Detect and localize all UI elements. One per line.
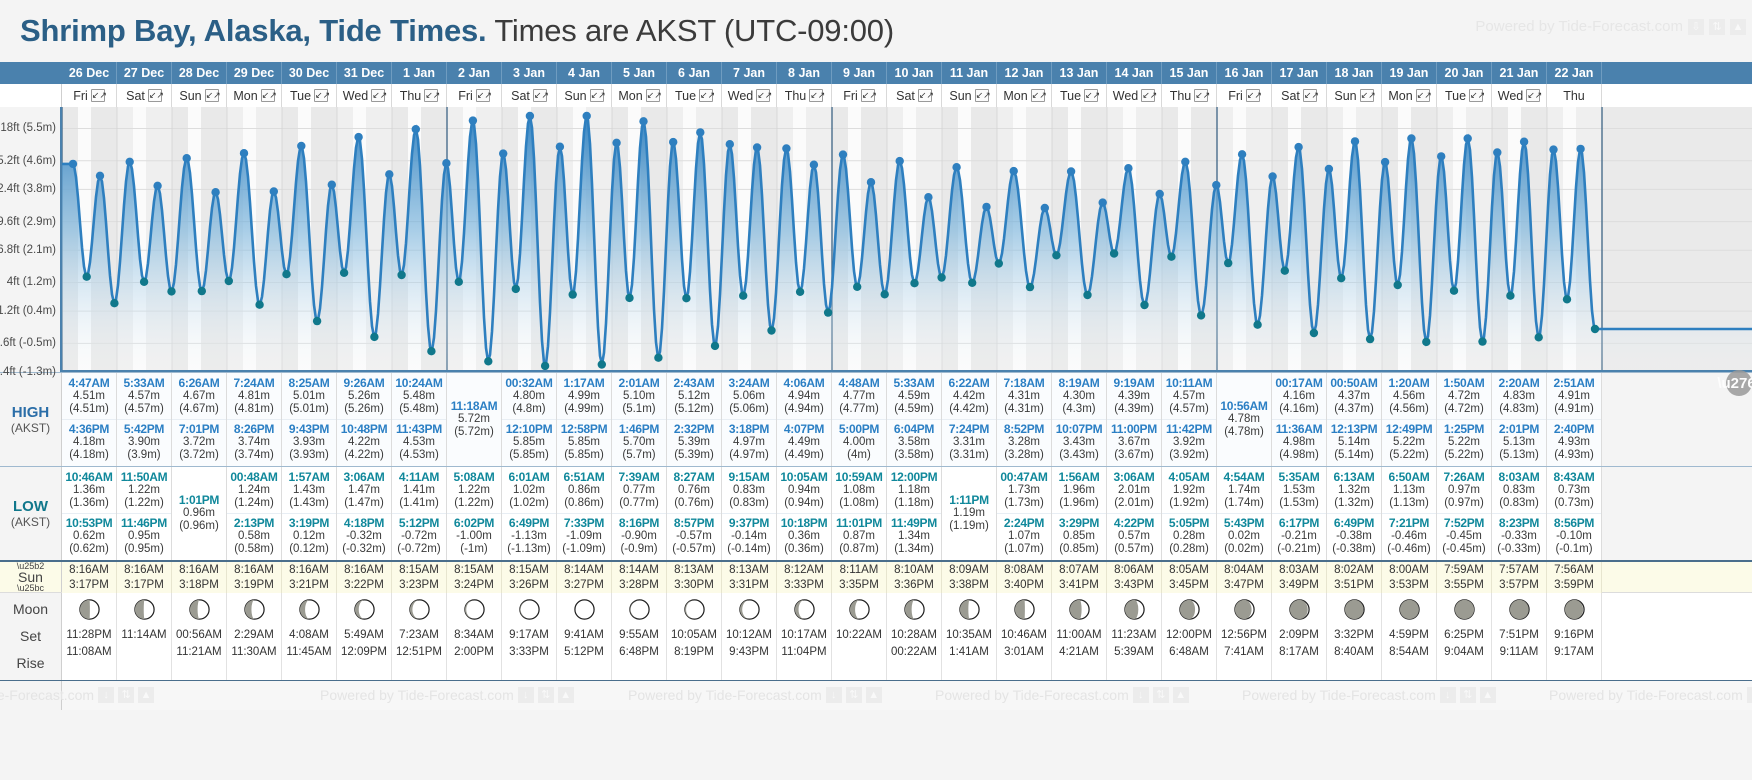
- expand-day-icon[interactable]: ↙↗: [205, 89, 219, 102]
- high-tide-time: 12:13PM: [1327, 422, 1381, 436]
- date-header-cell[interactable]: 28 Dec: [172, 62, 227, 84]
- high-tide-marker[interactable]: [1124, 164, 1132, 172]
- expand-day-icon[interactable]: ↙↗: [261, 89, 275, 102]
- low-tide-marker[interactable]: [1478, 337, 1486, 345]
- date-header-cell[interactable]: 30 Dec: [282, 62, 337, 84]
- high-tide-marker[interactable]: [1437, 152, 1445, 160]
- date-header-cell[interactable]: 22 Jan: [1547, 62, 1602, 84]
- low-tide-marker[interactable]: [255, 301, 263, 309]
- low-tide-marker[interactable]: [1310, 329, 1318, 337]
- high-tide-marker[interactable]: [526, 112, 534, 120]
- high-tide-marker[interactable]: [328, 181, 336, 189]
- sunset-time: 3:43PM: [1114, 578, 1154, 593]
- low-tide-label-tz: (AKST): [11, 515, 50, 529]
- expand-day-icon[interactable]: ↙↗: [861, 89, 875, 102]
- date-header-cell[interactable]: 8 Jan: [777, 62, 832, 84]
- weekday-header-cell: Tue↙↗: [1052, 84, 1107, 107]
- high-tide-marker[interactable]: [726, 140, 734, 148]
- low-tide-marker[interactable]: [282, 270, 290, 278]
- expand-day-icon[interactable]: ↙↗: [1141, 89, 1155, 102]
- date-header-cell[interactable]: 14 Jan: [1107, 62, 1162, 84]
- high-tide-marker[interactable]: [1351, 137, 1359, 145]
- low-tide-marker[interactable]: [881, 290, 889, 298]
- low-tide-height-alt: (0.85m): [1052, 543, 1106, 556]
- scroll-right-button[interactable]: \u276f: [1726, 370, 1752, 396]
- high-tide-marker[interactable]: [126, 158, 134, 166]
- high-tide-marker[interactable]: [982, 203, 990, 211]
- expand-day-icon[interactable]: ↙↗: [1416, 89, 1430, 102]
- low-tide-marker[interactable]: [682, 294, 690, 302]
- high-tide-marker[interactable]: [354, 133, 362, 141]
- sunset-time: 3:40PM: [1004, 578, 1044, 593]
- low-tide-marker[interactable]: [711, 342, 719, 350]
- low-tide-time: 6:17PM: [1272, 516, 1326, 530]
- low-tide-marker[interactable]: [1197, 311, 1205, 319]
- moon-phase-icon: [793, 598, 816, 621]
- high-tide-marker[interactable]: [1325, 165, 1333, 173]
- high-tide-height-alt: (3.58m): [887, 449, 941, 462]
- low-tide-cell: 8:43AM0.73m(0.73m)8:56PM-0.10m(-0.1m): [1547, 467, 1602, 560]
- high-tide-height-alt: (4.94m): [777, 403, 831, 416]
- high-tide-event: 3:24AM5.06m(5.06m): [722, 374, 776, 419]
- low-tide-height-alt: (1.73m): [997, 497, 1051, 510]
- low-tide-cell: 3:06AM2.01m(2.01m)4:22PM0.57m(0.57m): [1107, 467, 1162, 560]
- low-tide-marker[interactable]: [1224, 259, 1232, 267]
- low-tide-marker[interactable]: [110, 299, 118, 307]
- low-tide-cell: 10:05AM0.94m(0.94m)10:18PM0.36m(0.36m): [777, 467, 832, 560]
- low-tide-marker[interactable]: [598, 360, 606, 368]
- expand-day-icon[interactable]: ↙↗: [699, 89, 713, 102]
- sun-cell: 8:16AM3:19PM: [227, 562, 282, 594]
- low-tide-marker[interactable]: [1281, 267, 1289, 275]
- weekday-header-cell: Fri↙↗: [62, 84, 117, 107]
- expand-day-icon[interactable]: ↙↗: [1194, 89, 1208, 102]
- low-tide-marker[interactable]: [910, 279, 918, 287]
- sunrise-time: 8:03AM: [1279, 563, 1319, 578]
- low-tide-marker[interactable]: [1052, 251, 1060, 259]
- high-tide-marker[interactable]: [96, 172, 104, 180]
- low-tide-marker[interactable]: [1337, 274, 1345, 282]
- low-tide-marker[interactable]: [225, 277, 233, 285]
- low-tide-marker[interactable]: [796, 288, 804, 296]
- high-tide-marker[interactable]: [1238, 150, 1246, 158]
- sun-cell: 8:13AM3:31PM: [722, 562, 777, 594]
- low-tide-height-alt: (1.96m): [1052, 497, 1106, 510]
- expand-day-icon[interactable]: ↙↗: [646, 89, 660, 102]
- high-tide-marker[interactable]: [583, 112, 591, 120]
- high-tide-height-alt: (4.42m): [942, 403, 996, 416]
- sunset-time: 3:53PM: [1389, 578, 1429, 593]
- low-tide-marker[interactable]: [512, 285, 520, 293]
- low-tide-marker[interactable]: [1026, 283, 1034, 291]
- moon-cell: 9:55AM6:48PM: [612, 593, 667, 681]
- sunset-time: 3:21PM: [289, 578, 329, 593]
- date-header-cell[interactable]: 11 Jan: [942, 62, 997, 84]
- low-tide-marker[interactable]: [370, 333, 378, 341]
- sunrise-time: 8:16AM: [69, 563, 109, 578]
- low-tide-marker[interactable]: [1083, 291, 1091, 299]
- sun-cell: 7:59AM3:55PM: [1437, 562, 1492, 594]
- high-tide-time: 10:07PM: [1052, 422, 1106, 436]
- high-tide-marker[interactable]: [612, 139, 620, 147]
- high-tide-marker[interactable]: [782, 144, 790, 152]
- expand-day-icon[interactable]: ↙↗: [314, 89, 328, 102]
- high-tide-marker[interactable]: [270, 187, 278, 195]
- date-header-cell[interactable]: 9 Jan: [832, 62, 887, 84]
- date-header-cell[interactable]: 4 Jan: [557, 62, 612, 84]
- sunrise-time: 8:04AM: [1224, 563, 1264, 578]
- high-tide-height-alt: (5.7m): [612, 449, 666, 462]
- low-tide-marker[interactable]: [140, 278, 148, 286]
- high-tide-marker[interactable]: [469, 116, 477, 124]
- tide-chart-plot[interactable]: [62, 107, 1752, 372]
- high-tide-marker[interactable]: [69, 160, 77, 168]
- expand-day-icon[interactable]: ↙↗: [476, 89, 490, 102]
- expand-day-icon[interactable]: ↙↗: [590, 89, 604, 102]
- high-tide-height-alt: (4.39m): [1107, 403, 1161, 416]
- expand-day-icon[interactable]: ↙↗: [371, 89, 385, 102]
- high-tide-marker[interactable]: [412, 125, 420, 133]
- weekday-header-cell: Sun↙↗: [557, 84, 612, 107]
- low-tide-marker[interactable]: [1591, 325, 1599, 333]
- expand-day-icon[interactable]: ↙↗: [975, 89, 989, 102]
- low-tide-height: 0.86m: [557, 484, 611, 497]
- moon-label: Moon Set Rise: [0, 593, 62, 680]
- high-tide-marker[interactable]: [499, 149, 507, 157]
- low-tide-marker[interactable]: [541, 362, 549, 370]
- high-tide-marker[interactable]: [153, 182, 161, 190]
- high-tide-marker[interactable]: [556, 143, 564, 151]
- date-header-cell[interactable]: 5 Jan: [612, 62, 667, 84]
- low-tide-marker[interactable]: [654, 354, 662, 362]
- low-tide-time: 11:46PM: [117, 516, 171, 530]
- low-tide-marker[interactable]: [1394, 281, 1402, 289]
- high-tide-time: 2:01AM: [612, 376, 666, 390]
- high-tide-marker[interactable]: [1156, 190, 1164, 198]
- moonset-time: 00:56AM: [176, 627, 222, 644]
- high-tide-event: 11:18AM5.72m(5.72m): [447, 397, 501, 442]
- footer-watermark: Powered by Tide-Forecast.com↓⇅▲: [628, 687, 882, 703]
- expand-day-icon[interactable]: ↙↗: [809, 89, 823, 102]
- high-tide-marker[interactable]: [1099, 198, 1107, 206]
- high-tide-marker[interactable]: [1576, 145, 1584, 153]
- high-tide-marker[interactable]: [1464, 134, 1472, 142]
- date-header-cell[interactable]: 31 Dec: [337, 62, 392, 84]
- low-tide-event: 7:33PM-1.09m(-1.09m): [557, 513, 611, 559]
- low-tide-height-alt: (1.92m): [1162, 497, 1216, 510]
- high-tide-event: 2:43AM5.12m(5.12m): [667, 374, 721, 419]
- expand-day-icon[interactable]: ↙↗: [1084, 89, 1098, 102]
- high-tide-height-alt: (4.99m): [557, 403, 611, 416]
- low-tide-marker[interactable]: [937, 273, 945, 281]
- low-tide-marker[interactable]: [198, 287, 206, 295]
- moonset-time: 10:12AM: [726, 627, 772, 644]
- high-tide-marker[interactable]: [639, 117, 647, 125]
- moonrise-time: 6:48PM: [619, 644, 659, 661]
- high-tide-height: 4.00m: [832, 436, 886, 449]
- low-tide-event: 8:16PM-0.90m(-0.9m): [612, 513, 666, 559]
- low-tide-marker[interactable]: [853, 283, 861, 291]
- low-tide-marker[interactable]: [995, 259, 1003, 267]
- date-header-cell[interactable]: 3 Jan: [502, 62, 557, 84]
- weekday-label: Wed: [1498, 89, 1523, 103]
- high-tide-height: 4.56m: [1382, 390, 1436, 403]
- low-tide-marker[interactable]: [1110, 249, 1118, 257]
- weekday-label: Thu: [1170, 89, 1192, 103]
- high-tide-time: 9:19AM: [1107, 376, 1161, 390]
- low-tide-marker[interactable]: [569, 290, 577, 298]
- moon-cell: 11:14AM: [117, 593, 172, 681]
- sun-cell: 8:14AM3:27PM: [557, 562, 612, 594]
- high-tide-marker[interactable]: [1549, 145, 1557, 153]
- high-tide-time: 10:11AM: [1162, 376, 1216, 390]
- moonset-time: 9:41AM: [564, 627, 604, 644]
- moonset-time: 9:55AM: [619, 627, 659, 644]
- low-tide-height-alt: (0.83m): [722, 497, 776, 510]
- expand-day-icon[interactable]: ↙↗: [148, 89, 162, 102]
- sunrise-time: 8:07AM: [1059, 563, 1099, 578]
- date-header-cell[interactable]: 15 Jan: [1162, 62, 1217, 84]
- high-tide-height: 4.91m: [1547, 390, 1601, 403]
- weekday-label: Sat: [1281, 89, 1300, 103]
- high-tide-height: 5.22m: [1382, 436, 1436, 449]
- low-tide-marker[interactable]: [1563, 295, 1571, 303]
- moon-cell: 11:28PM11:08AM: [62, 593, 117, 681]
- high-tide-height-alt: (3.93m): [282, 449, 336, 462]
- low-tide-height: 0.36m: [777, 530, 831, 543]
- high-tide-marker[interactable]: [385, 170, 393, 178]
- date-header-cell[interactable]: 10 Jan: [887, 62, 942, 84]
- low-tide-marker[interactable]: [1506, 292, 1514, 300]
- low-tide-height-alt: (-0.32m): [337, 543, 391, 556]
- low-tide-marker[interactable]: [484, 357, 492, 365]
- weekday-label: Tue: [1445, 89, 1466, 103]
- high-tide-time: 4:48AM: [832, 376, 886, 390]
- high-tide-height-alt: (3.67m): [1107, 449, 1161, 462]
- low-tide-event: 6:49PM-0.38m(-0.38m): [1327, 513, 1381, 559]
- high-tide-marker[interactable]: [1407, 134, 1415, 142]
- high-tide-marker[interactable]: [810, 161, 818, 169]
- low-tide-marker[interactable]: [824, 308, 832, 316]
- high-tide-height-alt: (5.72m): [447, 426, 501, 439]
- high-tide-marker[interactable]: [1212, 181, 1220, 189]
- date-header-cell[interactable]: 7 Jan: [722, 62, 777, 84]
- high-tide-height: 4.53m: [392, 436, 446, 449]
- moonrise-time: 00:22AM: [891, 644, 937, 661]
- date-header-cell[interactable]: 29 Dec: [227, 62, 282, 84]
- high-tide-height: 4.51m: [62, 390, 116, 403]
- low-tide-marker[interactable]: [427, 347, 435, 355]
- expand-day-icon[interactable]: ↙↗: [1246, 89, 1260, 102]
- low-tide-height: 0.83m: [1492, 484, 1546, 497]
- high-tide-marker[interactable]: [839, 150, 847, 158]
- date-header-cell[interactable]: 17 Jan: [1272, 62, 1327, 84]
- low-tide-height-alt: (1.08m): [832, 497, 886, 510]
- high-tide-height: 5.72m: [447, 413, 501, 426]
- moonset-time: 11:23AM: [1111, 627, 1156, 644]
- date-header-cell[interactable]: 13 Jan: [1052, 62, 1107, 84]
- date-header-cell[interactable]: 20 Jan: [1437, 62, 1492, 84]
- high-tide-time: 11:36AM: [1272, 422, 1326, 436]
- low-tide-height: 0.87m: [832, 530, 886, 543]
- high-tide-marker[interactable]: [240, 149, 248, 157]
- date-header-cell[interactable]: 6 Jan: [667, 62, 722, 84]
- low-tide-height: 0.58m: [227, 530, 281, 543]
- high-tide-height-alt: (4.31m): [997, 403, 1051, 416]
- low-tide-marker[interactable]: [1535, 333, 1543, 341]
- high-tide-marker[interactable]: [1493, 148, 1501, 156]
- low-tide-marker[interactable]: [1167, 253, 1175, 261]
- expand-day-icon[interactable]: ↙↗: [1031, 89, 1045, 102]
- high-tide-cell: 7:18AM4.31m(4.31m)8:52PM3.28m(3.28m): [997, 373, 1052, 466]
- expand-day-icon[interactable]: ↙↗: [918, 89, 932, 102]
- high-tide-marker[interactable]: [924, 193, 932, 201]
- high-tide-cell: 5:33AM4.59m(4.59m)6:04PM3.58m(3.58m): [887, 373, 942, 466]
- high-tide-event: 1:50AM4.72m(4.72m): [1437, 374, 1491, 419]
- expand-day-icon[interactable]: ↙↗: [1303, 89, 1317, 102]
- low-tide-marker[interactable]: [455, 278, 463, 286]
- high-tide-marker[interactable]: [1268, 172, 1276, 180]
- expand-day-icon[interactable]: ↙↗: [1360, 89, 1374, 102]
- low-tide-marker[interactable]: [1140, 301, 1148, 309]
- high-tide-event: 11:00PM3.67m(3.67m): [1107, 419, 1161, 465]
- high-tide-time: 4:06AM: [777, 376, 831, 390]
- low-tide-event: 5:12PM-0.72m(-0.72m): [392, 513, 446, 559]
- high-tide-marker[interactable]: [952, 163, 960, 171]
- date-header-cell[interactable]: 21 Jan: [1492, 62, 1547, 84]
- date-header-cell[interactable]: 2 Jan: [447, 62, 502, 84]
- expand-day-icon[interactable]: ↙↗: [756, 89, 770, 102]
- chart-y-tick-label: 12.4ft (3.8m): [0, 183, 56, 195]
- low-tide-height-alt: (-0.72m): [392, 543, 446, 556]
- low-tide-marker[interactable]: [83, 273, 91, 281]
- low-tide-time: 2:13PM: [227, 516, 281, 530]
- high-tide-height: 4.67m: [172, 390, 226, 403]
- low-tide-marker[interactable]: [167, 287, 175, 295]
- high-tide-cell: 10:56AM4.78m(4.78m): [1217, 373, 1272, 466]
- low-tide-cell: 4:11AM1.41m(1.41m)5:12PM-0.72m(-0.72m): [392, 467, 447, 560]
- refresh-badge-icon: ⇅: [846, 687, 862, 703]
- high-tide-marker[interactable]: [1294, 143, 1302, 151]
- sun-cell: 8:03AM3:49PM: [1272, 562, 1327, 594]
- high-tide-marker[interactable]: [1010, 167, 1018, 175]
- low-tide-time: 6:50AM: [1382, 470, 1436, 484]
- low-tide-height: 1.19m: [942, 507, 996, 520]
- high-tide-cell: 3:24AM5.06m(5.06m)3:18PM4.97m(4.97m): [722, 373, 777, 466]
- high-tide-marker[interactable]: [211, 188, 219, 196]
- page-title-location: Shrimp Bay, Alaska, Tide Times.: [20, 13, 486, 48]
- high-tide-marker[interactable]: [1381, 158, 1389, 166]
- low-tide-marker[interactable]: [397, 271, 405, 279]
- high-tide-time: 2:40PM: [1547, 422, 1601, 436]
- low-tide-marker[interactable]: [739, 292, 747, 300]
- high-tide-marker[interactable]: [1041, 204, 1049, 212]
- high-tide-time: 2:20AM: [1492, 376, 1546, 390]
- low-tide-height-alt: (1.53m): [1272, 497, 1326, 510]
- low-tide-marker[interactable]: [1253, 321, 1261, 329]
- expand-day-icon[interactable]: ↙↗: [533, 89, 547, 102]
- low-tide-height: -0.14m: [722, 530, 776, 543]
- sunrise-time: 8:13AM: [729, 563, 769, 578]
- low-tide-marker[interactable]: [767, 326, 775, 334]
- expand-day-icon[interactable]: ↙↗: [424, 89, 438, 102]
- low-tide-height-alt: (-0.46m): [1382, 543, 1436, 556]
- low-tide-marker[interactable]: [1450, 287, 1458, 295]
- low-tide-marker[interactable]: [340, 269, 348, 277]
- date-header-cell[interactable]: 19 Jan: [1382, 62, 1437, 84]
- high-tide-marker[interactable]: [867, 178, 875, 186]
- moonrise-time: 8:17AM: [1279, 644, 1319, 661]
- refresh-badge-icon: ⇅: [538, 687, 554, 703]
- moon-cell: 10:46AM3:01AM: [997, 593, 1052, 681]
- date-header-cell[interactable]: 1 Jan: [392, 62, 447, 84]
- high-tide-marker[interactable]: [696, 128, 704, 136]
- low-tide-time: 4:22PM: [1107, 516, 1161, 530]
- high-tide-marker[interactable]: [1520, 138, 1528, 146]
- date-header-cell[interactable]: 27 Dec: [117, 62, 172, 84]
- low-tide-event: 10:59AM1.08m(1.08m): [832, 468, 886, 513]
- high-tide-marker[interactable]: [183, 154, 191, 162]
- low-tide-height: 0.57m: [1107, 530, 1161, 543]
- high-tide-time: 8:25AM: [282, 376, 336, 390]
- high-tide-time: 12:58PM: [557, 422, 611, 436]
- low-tide-cell: 8:03AM0.83m(0.83m)8:23PM-0.33m(-0.33m): [1492, 467, 1547, 560]
- moon-cell: 6:25PM9:04AM: [1437, 593, 1492, 681]
- low-tide-height-alt: (0.96m): [172, 520, 226, 533]
- high-tide-time: 10:48PM: [337, 422, 391, 436]
- date-header-cell[interactable]: 12 Jan: [997, 62, 1052, 84]
- low-tide-marker[interactable]: [1366, 335, 1374, 343]
- high-tide-height: 3.67m: [1107, 436, 1161, 449]
- chart-y-tick-label: -4.4ft (-1.3m): [0, 366, 56, 378]
- high-tide-marker[interactable]: [1067, 167, 1075, 175]
- low-tide-height-alt: (0.57m): [1107, 543, 1161, 556]
- high-tide-marker[interactable]: [297, 142, 305, 150]
- sun-cell: 8:15AM3:26PM: [502, 562, 557, 594]
- high-tide-marker[interactable]: [753, 143, 761, 151]
- expand-day-icon[interactable]: ↙↗: [1526, 89, 1540, 102]
- moonrise-time: 3:01AM: [1004, 644, 1044, 661]
- expand-day-icon[interactable]: ↙↗: [91, 89, 105, 102]
- moonset-time: 6:25PM: [1444, 627, 1484, 644]
- high-tide-time: 5:33AM: [117, 376, 171, 390]
- low-tide-event: 7:21PM-0.46m(-0.46m): [1382, 513, 1436, 559]
- weekday-label: Sun: [179, 89, 201, 103]
- date-header-cell[interactable]: 26 Dec: [62, 62, 117, 84]
- high-tide-marker[interactable]: [442, 159, 450, 167]
- sun-cell: 8:09AM3:38PM: [942, 562, 997, 594]
- high-tide-marker[interactable]: [1181, 158, 1189, 166]
- high-tide-marker[interactable]: [669, 138, 677, 146]
- high-tide-time: 1:17AM: [557, 376, 611, 390]
- high-tide-cell: 6:22AM4.42m(4.42m)7:24PM3.31m(3.31m): [942, 373, 997, 466]
- low-tide-marker[interactable]: [625, 294, 633, 302]
- sunset-time: 3:27PM: [564, 578, 604, 593]
- low-tide-event: 8:57PM-0.57m(-0.57m): [667, 513, 721, 559]
- high-tide-height-alt: (4.78m): [1217, 426, 1271, 439]
- low-tide-event: 6:49PM-1.13m(-1.13m): [502, 513, 556, 559]
- date-header-cell[interactable]: 18 Jan: [1327, 62, 1382, 84]
- low-tide-marker[interactable]: [1422, 338, 1430, 346]
- date-header-cell[interactable]: 16 Jan: [1217, 62, 1272, 84]
- expand-day-icon[interactable]: ↙↗: [1469, 89, 1483, 102]
- high-tide-marker[interactable]: [896, 157, 904, 165]
- low-tide-time: 10:59AM: [832, 470, 886, 484]
- low-tide-marker[interactable]: [313, 317, 321, 325]
- weekday-label: Mon: [618, 89, 642, 103]
- high-tide-height: 4.37m: [1327, 390, 1381, 403]
- low-tide-marker[interactable]: [968, 279, 976, 287]
